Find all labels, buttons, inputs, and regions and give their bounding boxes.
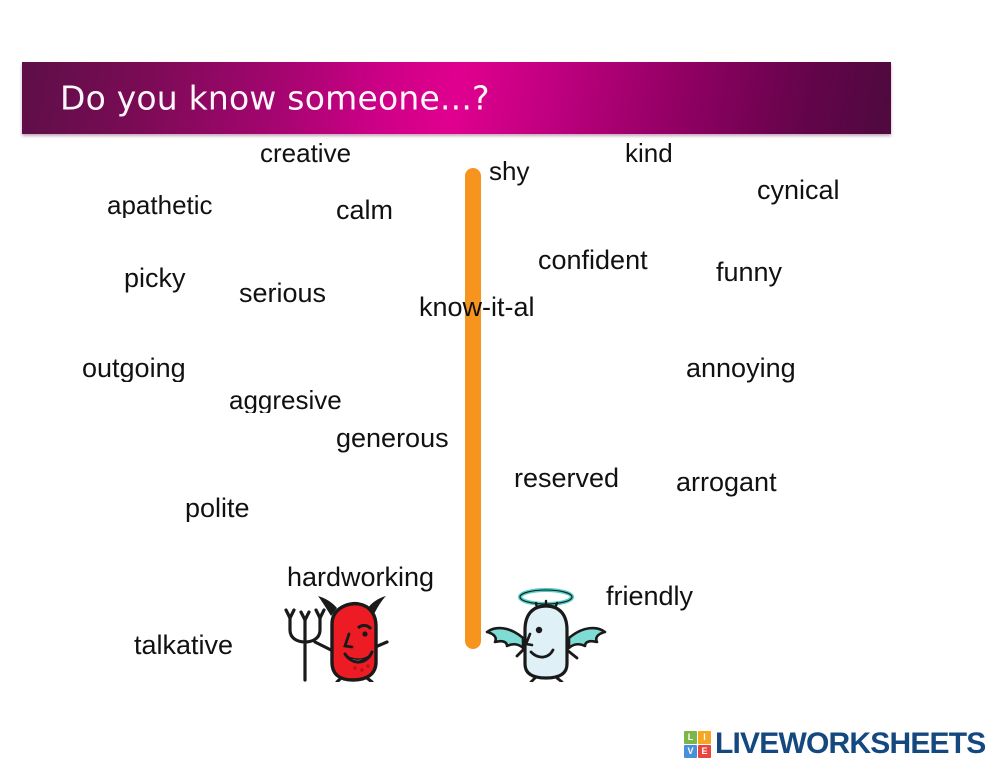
liveworksheets-logo[interactable]: LIVE LIVEWORKSHEETS <box>684 729 986 759</box>
word-cloud-item: talkative <box>134 632 233 659</box>
word-cloud-item: arrogant <box>676 469 777 496</box>
word-cloud-item: know-it-al <box>419 294 535 321</box>
word-cloud-item: aggresive <box>229 387 351 413</box>
angel-character <box>483 586 609 687</box>
word-cloud-item: apathetic <box>107 192 221 218</box>
page-title: Do you know someone...? <box>60 79 490 118</box>
word-cloud-item: hardworking <box>287 564 434 591</box>
word-cloud-item: kind <box>625 140 673 166</box>
word-cloud-item: generous <box>336 425 449 452</box>
word-cloud-item: funny <box>716 259 782 286</box>
logo-tile-v: V <box>684 745 697 758</box>
worksheet-page: Do you know someone...? creativekindshyc… <box>0 0 999 772</box>
word-cloud-item: picky <box>124 265 186 292</box>
liveworksheets-wordmark: LIVEWORKSHEETS <box>715 729 986 759</box>
devil-character <box>275 590 393 687</box>
word-cloud-item: friendly <box>606 583 693 610</box>
logo-tile-l: L <box>684 731 697 744</box>
word-cloud-item: outgoing <box>82 355 193 382</box>
title-banner: Do you know someone...? <box>22 62 891 134</box>
word-cloud-item: reserved <box>514 465 619 492</box>
word-cloud-item: shy <box>489 158 529 184</box>
word-cloud-item: polite <box>185 495 249 522</box>
word-cloud-item: calm <box>336 197 393 224</box>
orange-vertical-bar <box>465 168 481 649</box>
liveworksheets-logo-tiles: LIVE <box>684 731 711 758</box>
logo-tile-i: I <box>698 731 711 744</box>
logo-tile-e: E <box>698 745 711 758</box>
word-cloud-item: creative <box>260 140 351 166</box>
word-cloud-item: confident <box>538 247 648 274</box>
word-cloud-item: annoying <box>686 355 796 382</box>
word-cloud-item: cynical <box>757 177 840 204</box>
word-cloud-item: serious <box>239 280 326 307</box>
